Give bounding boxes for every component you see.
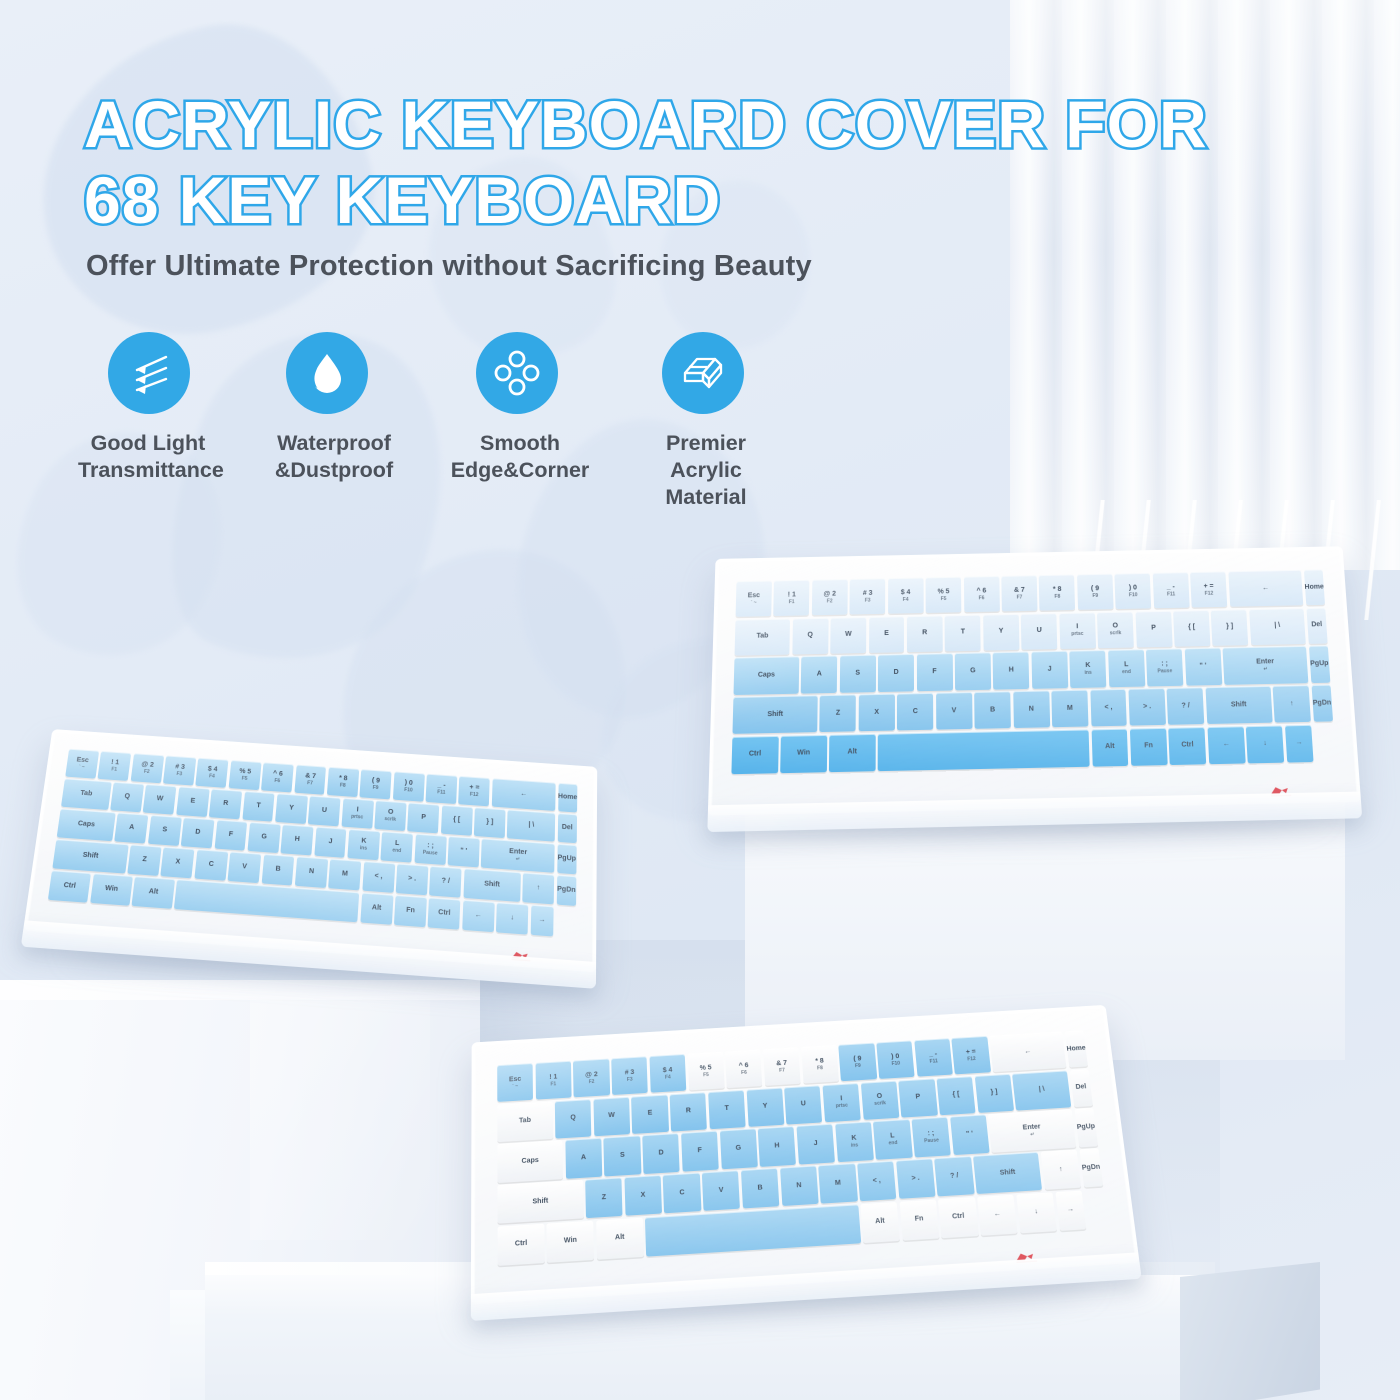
keycap[interactable] bbox=[878, 729, 1090, 771]
keycap-legend: | \ bbox=[1274, 622, 1280, 630]
keycap[interactable]: D bbox=[878, 654, 914, 691]
keycap[interactable]: > . bbox=[896, 1158, 936, 1199]
keycap-legend: N bbox=[796, 1182, 802, 1190]
keycap[interactable]: P bbox=[899, 1078, 938, 1117]
keycap-legend: F bbox=[228, 831, 233, 839]
keycap[interactable]: Oscrlk bbox=[1097, 611, 1134, 648]
keycap[interactable]: X bbox=[624, 1175, 662, 1216]
keycap[interactable]: H bbox=[281, 825, 314, 856]
keycap[interactable]: Ctrl bbox=[48, 871, 91, 903]
keycap[interactable]: Win bbox=[780, 735, 827, 773]
keycap[interactable]: Alt bbox=[360, 893, 393, 925]
keycap-legend: ← bbox=[993, 1211, 1001, 1219]
keycap-legend: ^ 6 bbox=[976, 587, 986, 595]
keycap[interactable]: Alt bbox=[829, 734, 875, 772]
keycap[interactable]: { [ bbox=[1173, 610, 1210, 647]
keycap-legend: Win bbox=[797, 750, 810, 758]
keycap[interactable]: * 8F8 bbox=[327, 767, 359, 797]
keycap-legend: G bbox=[261, 833, 267, 841]
keycap[interactable]: X bbox=[859, 694, 895, 732]
keycap[interactable]: F bbox=[214, 820, 247, 851]
keycap[interactable]: Win bbox=[547, 1220, 594, 1262]
keycap[interactable]: Tab bbox=[497, 1101, 553, 1142]
keycap[interactable]: Ctrl bbox=[1169, 727, 1207, 765]
keycap-grid: Esc` ~! 1F1@ 2F2# 3F3$ 4F4% 5F5^ 6F6& 7F… bbox=[731, 569, 1335, 774]
keycap-legend: G bbox=[970, 667, 976, 675]
keycap-legend: Win bbox=[105, 885, 119, 894]
keycap[interactable]: } ] bbox=[474, 807, 506, 837]
keycap-legend: S bbox=[620, 1152, 625, 1160]
keycap[interactable]: Lend bbox=[381, 832, 413, 863]
keycap-legend: PgUp bbox=[1310, 660, 1329, 668]
keycap-legend: Fn bbox=[406, 907, 415, 916]
keycap-legend: Ctrl bbox=[749, 751, 761, 759]
keycap-legend: PgUp bbox=[558, 854, 576, 863]
keycap[interactable]: Kins bbox=[1070, 650, 1107, 687]
keycap-legend: Enter bbox=[1256, 658, 1274, 666]
keycap[interactable]: Del bbox=[1306, 607, 1328, 643]
keycap[interactable]: > . bbox=[396, 864, 429, 895]
keycap[interactable]: " ' bbox=[1184, 648, 1222, 685]
keycap-legend: M bbox=[1067, 705, 1073, 713]
keycap[interactable]: Q bbox=[110, 782, 144, 812]
keycap-legend: Z bbox=[602, 1194, 607, 1202]
keycap-legend: Del bbox=[562, 824, 573, 832]
keycap[interactable]: Z bbox=[820, 695, 857, 733]
keycap[interactable]: Esc` ~ bbox=[65, 749, 99, 779]
feature-item-smooth-edge: Smooth Edge&Corner bbox=[450, 332, 590, 511]
keycap[interactable]: Z bbox=[127, 845, 161, 876]
keycap[interactable]: Y bbox=[983, 614, 1019, 651]
keycap[interactable]: < , bbox=[1090, 689, 1127, 727]
keycap-sublegend: F3 bbox=[176, 771, 182, 777]
keycap[interactable]: ? / bbox=[934, 1156, 974, 1197]
feature-list: Good Light Transmittance Waterproof &Dus… bbox=[78, 332, 776, 511]
keycap[interactable]: Iprtsc bbox=[341, 798, 373, 828]
keycap-legend: ) 0 bbox=[1129, 584, 1137, 592]
keycap[interactable]: X bbox=[161, 847, 195, 878]
keycap[interactable]: Ctrl bbox=[731, 736, 778, 775]
keycap[interactable]: N bbox=[295, 857, 328, 888]
keycap-sublegend: F7 bbox=[307, 780, 313, 786]
keycap[interactable]: Enter↵ bbox=[481, 839, 555, 873]
keycap-legend: { [ bbox=[1188, 624, 1195, 632]
keycap[interactable]: ! 1F1 bbox=[535, 1061, 571, 1100]
keycap[interactable]: ↑ bbox=[522, 873, 554, 904]
keycap-legend: Q bbox=[807, 632, 813, 640]
keycap-legend: D bbox=[894, 669, 899, 677]
keycap[interactable]: ↑ bbox=[1273, 685, 1311, 723]
keycap[interactable]: S bbox=[148, 815, 182, 846]
keycap[interactable]: + =F12 bbox=[952, 1036, 991, 1075]
keycap-legend: ← bbox=[520, 790, 527, 798]
keycap-legend: O bbox=[1112, 623, 1118, 631]
keycap[interactable]: | \ bbox=[1012, 1070, 1071, 1110]
keycap-legend: H bbox=[1009, 667, 1014, 675]
keycap[interactable]: { [ bbox=[441, 805, 473, 835]
keycap[interactable]: Fn bbox=[899, 1199, 939, 1240]
keycap[interactable]: Shift bbox=[52, 839, 128, 873]
keycap-sublegend: F4 bbox=[903, 597, 909, 603]
keycap-legend: Z bbox=[142, 856, 147, 864]
keycap-legend: Del bbox=[1311, 622, 1322, 630]
keycap-legend: } ] bbox=[990, 1089, 998, 1097]
keycap-legend: Ctrl bbox=[63, 882, 76, 891]
keycap-legend: Del bbox=[1075, 1084, 1087, 1092]
keycap[interactable]: Shift bbox=[497, 1180, 583, 1224]
keycap[interactable]: ! 1F1 bbox=[98, 751, 132, 781]
keycap[interactable]: Kins bbox=[835, 1122, 874, 1162]
keycap[interactable]: # 3F3 bbox=[850, 578, 886, 614]
keycap[interactable]: * 8F8 bbox=[801, 1045, 839, 1084]
keycap[interactable]: Iprtsc bbox=[822, 1083, 861, 1122]
keycap-legend: PgDn bbox=[1081, 1163, 1100, 1172]
keycap[interactable]: Ctrl bbox=[938, 1197, 978, 1238]
keycap[interactable]: Tab bbox=[61, 779, 111, 810]
keycap-sublegend: end bbox=[888, 1140, 897, 1146]
keycap[interactable]: W bbox=[830, 617, 866, 654]
keycap[interactable]: < , bbox=[362, 861, 395, 892]
keycap[interactable]: V bbox=[936, 692, 972, 730]
keycap[interactable]: → bbox=[1055, 1190, 1086, 1231]
keycap[interactable]: M bbox=[818, 1163, 857, 1204]
keycap[interactable]: ↓ bbox=[1246, 725, 1284, 763]
keycap[interactable]: ↓ bbox=[1016, 1192, 1057, 1233]
keycap[interactable]: A bbox=[565, 1138, 602, 1178]
keycap[interactable]: < , bbox=[857, 1161, 896, 1202]
keycap[interactable]: " ' bbox=[448, 836, 480, 867]
keycap-legend: ( 9 bbox=[1091, 585, 1099, 593]
keycap[interactable]: PgUp bbox=[1309, 646, 1331, 683]
keycap[interactable]: : ;Pause bbox=[912, 1117, 951, 1157]
keycap-legend: N bbox=[1029, 705, 1034, 713]
keycap[interactable]: ← bbox=[977, 1195, 1018, 1236]
keycap[interactable]: T bbox=[242, 791, 275, 821]
keycap-legend: PgDn bbox=[557, 886, 576, 895]
keycap[interactable]: Z bbox=[585, 1177, 623, 1218]
keycap[interactable]: Oscrlk bbox=[860, 1080, 899, 1119]
keycap[interactable]: ( 9F9 bbox=[360, 769, 392, 799]
keycap[interactable]: % 5F5 bbox=[687, 1052, 724, 1091]
keycap[interactable]: ! 1F1 bbox=[774, 580, 810, 616]
keycap[interactable]: > . bbox=[1128, 688, 1166, 726]
keycap[interactable]: D bbox=[642, 1133, 680, 1173]
keycap[interactable]: C bbox=[663, 1173, 701, 1214]
keycap[interactable]: } ] bbox=[1211, 609, 1249, 646]
keycap[interactable]: Tab bbox=[735, 618, 791, 655]
keycap[interactable]: Enter↵ bbox=[1223, 646, 1309, 684]
keycap-legend: B bbox=[275, 866, 281, 874]
keycap[interactable]: Win bbox=[90, 874, 133, 906]
keycap[interactable]: PgDn bbox=[556, 875, 576, 906]
keycap[interactable]: Alt bbox=[596, 1217, 644, 1259]
keycap[interactable]: C bbox=[194, 850, 228, 881]
keycap[interactable]: V bbox=[702, 1170, 740, 1211]
keycap-legend: * 8 bbox=[1053, 586, 1062, 594]
keycap[interactable]: A bbox=[801, 656, 837, 693]
keycap[interactable]: R bbox=[670, 1092, 707, 1132]
keycap[interactable]: Kins bbox=[347, 829, 380, 860]
keycap[interactable]: Shift bbox=[463, 869, 520, 902]
keycap[interactable]: M bbox=[328, 859, 361, 890]
keycap[interactable]: $ 4F4 bbox=[196, 758, 229, 788]
keycap[interactable]: & 7F7 bbox=[1001, 575, 1037, 611]
keycap[interactable]: J bbox=[796, 1124, 835, 1164]
keycap[interactable]: Oscrlk bbox=[374, 800, 406, 830]
keycap[interactable]: Alt bbox=[1091, 728, 1129, 766]
keycap[interactable]: J bbox=[1031, 651, 1068, 688]
keycap-sublegend: F3 bbox=[627, 1076, 633, 1082]
keycap-legend: V bbox=[719, 1187, 724, 1195]
keycap[interactable]: W bbox=[143, 784, 177, 814]
keycap[interactable]: G bbox=[247, 822, 280, 853]
keycap[interactable]: @ 2F2 bbox=[130, 753, 163, 783]
keycap[interactable]: _ -F11 bbox=[1152, 572, 1189, 608]
keycap[interactable]: M bbox=[1051, 690, 1088, 728]
keycap[interactable]: R bbox=[209, 789, 242, 819]
keycap-legend: { [ bbox=[952, 1091, 960, 1099]
keycap-legend: : ; bbox=[1161, 660, 1168, 668]
keycap[interactable]: @ 2F2 bbox=[812, 579, 848, 615]
keycap[interactable]: ? / bbox=[429, 866, 461, 897]
keycap[interactable]: Caps bbox=[733, 657, 799, 695]
keycap-legend: Ctrl bbox=[1181, 742, 1194, 750]
keycap[interactable]: * 8F8 bbox=[1039, 574, 1075, 610]
keycap[interactable]: U bbox=[784, 1085, 822, 1124]
keycap[interactable]: ↓ bbox=[496, 903, 528, 935]
keycap[interactable]: _ -F11 bbox=[914, 1038, 953, 1077]
keycap[interactable]: Shift bbox=[732, 695, 817, 734]
keycap-legend: ← bbox=[475, 912, 482, 921]
keycap[interactable]: V bbox=[228, 852, 262, 883]
keycap-legend: X bbox=[874, 709, 879, 717]
keycap[interactable]: G bbox=[719, 1129, 757, 1169]
keycap[interactable]: PgUp bbox=[557, 844, 577, 874]
keycap[interactable]: ) 0F10 bbox=[876, 1040, 915, 1079]
keycap[interactable]: F bbox=[681, 1131, 719, 1171]
keycap[interactable]: + =F12 bbox=[459, 776, 490, 806]
keycap-legend: > . bbox=[408, 875, 416, 883]
keycap[interactable]: P bbox=[407, 803, 439, 833]
keycap-legend: Fn bbox=[915, 1216, 924, 1225]
keycap[interactable]: P bbox=[1135, 611, 1172, 648]
keycap-sublegend: F5 bbox=[703, 1072, 709, 1078]
keycap[interactable]: Alt bbox=[132, 877, 175, 909]
keycap[interactable]: & 7F7 bbox=[294, 765, 326, 795]
keycap-sublegend: prtsc bbox=[1071, 631, 1083, 637]
feature-label: Smooth Edge&Corner bbox=[450, 430, 590, 484]
keycap[interactable]: ← bbox=[1207, 726, 1245, 764]
keycap[interactable]: → bbox=[1285, 725, 1314, 763]
keycap[interactable]: D bbox=[181, 817, 215, 848]
keycap[interactable]: N bbox=[1013, 691, 1050, 729]
keycap[interactable]: ↑ bbox=[1041, 1150, 1082, 1191]
keycap-sublegend: F12 bbox=[470, 792, 479, 798]
keycap-legend: $ 4 bbox=[901, 589, 911, 597]
keycap[interactable]: S bbox=[604, 1136, 641, 1176]
keycap[interactable]: Shift bbox=[973, 1152, 1042, 1194]
keycap-sublegend: F2 bbox=[589, 1079, 595, 1085]
keycap[interactable]: # 3F3 bbox=[163, 756, 196, 786]
keycap[interactable]: ^ 6F6 bbox=[261, 762, 294, 792]
keycap[interactable]: ^ 6F6 bbox=[964, 576, 1000, 612]
keycap[interactable]: Fn bbox=[1130, 728, 1168, 766]
keycap[interactable]: Ctrl bbox=[498, 1224, 545, 1266]
keycap[interactable]: ← bbox=[462, 900, 494, 932]
keycap[interactable]: # 3F3 bbox=[611, 1056, 648, 1095]
keycap[interactable]: W bbox=[593, 1097, 630, 1137]
keycap[interactable]: { [ bbox=[937, 1076, 976, 1115]
keycap-legend: Shift bbox=[82, 852, 99, 861]
keycap[interactable]: Q bbox=[792, 618, 828, 655]
keycap[interactable]: F bbox=[916, 654, 952, 691]
keycap-legend: I bbox=[1076, 624, 1078, 632]
keycap[interactable]: H bbox=[758, 1126, 796, 1166]
keycap[interactable]: Caps bbox=[57, 809, 116, 841]
keycap-legend: " ' bbox=[460, 848, 467, 856]
keycap-legend: Ctrl bbox=[952, 1213, 965, 1222]
keycap[interactable]: → bbox=[530, 905, 554, 936]
pedestal-center-side bbox=[1180, 1262, 1320, 1400]
keycap[interactable]: " ' bbox=[950, 1115, 990, 1155]
keycap[interactable]: Alt bbox=[860, 1202, 900, 1243]
keycap-legend: I bbox=[840, 1096, 842, 1104]
keycap-legend: J bbox=[1048, 666, 1052, 674]
keycap-legend: ← bbox=[1223, 741, 1230, 749]
keycap[interactable]: ) 0F10 bbox=[393, 771, 425, 801]
keycap-sublegend: ins bbox=[360, 845, 368, 851]
keycap-legend: PgUp bbox=[1077, 1123, 1096, 1132]
keycap-legend: P bbox=[915, 1094, 920, 1102]
headline-line-2: 68 KEY KEYBOARD bbox=[84, 162, 1164, 238]
keycap[interactable]: U bbox=[308, 796, 341, 826]
keycap-legend: ← bbox=[1024, 1048, 1032, 1056]
keycap[interactable]: Lend bbox=[873, 1119, 912, 1159]
keycap-legend: M bbox=[835, 1179, 841, 1187]
keycap[interactable]: R bbox=[907, 615, 943, 652]
keycap-legend: G bbox=[736, 1145, 742, 1153]
keycap-legend: J bbox=[813, 1140, 817, 1148]
keycap[interactable]: ( 9F9 bbox=[839, 1043, 877, 1082]
keycap[interactable]: H bbox=[993, 652, 1030, 689]
keycap[interactable]: | \ bbox=[507, 810, 555, 842]
water-drop-icon bbox=[286, 332, 368, 414]
keycap[interactable]: @ 2F2 bbox=[573, 1059, 610, 1098]
keycap[interactable]: _ -F11 bbox=[426, 774, 458, 804]
light-rays-icon bbox=[108, 332, 190, 414]
keycap[interactable]: E bbox=[631, 1094, 668, 1134]
keycap-legend: ? / bbox=[441, 878, 450, 886]
keycap[interactable]: Iprtsc bbox=[1059, 612, 1096, 649]
feature-item-acrylic-material: Premier Acrylic Material bbox=[636, 332, 776, 511]
keycap[interactable]: Home bbox=[1303, 569, 1325, 605]
keycap-sublegend: F4 bbox=[209, 773, 215, 779]
keycap-sublegend: F2 bbox=[144, 769, 150, 775]
keycap-sublegend: ins bbox=[851, 1142, 859, 1148]
keycap[interactable]: Esc` ~ bbox=[497, 1063, 533, 1102]
keycap-legend: Shift bbox=[767, 711, 783, 719]
acrylic-stack-icon bbox=[662, 332, 744, 414]
keycap[interactable]: Caps bbox=[497, 1140, 563, 1182]
keycap[interactable]: + =F12 bbox=[1190, 571, 1227, 607]
keycap[interactable]: A bbox=[115, 813, 149, 844]
keycap[interactable]: B bbox=[261, 854, 294, 885]
keycap[interactable]: Enter↵ bbox=[988, 1110, 1076, 1153]
keycap[interactable]: Home bbox=[558, 783, 578, 812]
keycap[interactable]: Del bbox=[557, 813, 577, 843]
keycap[interactable]: ) 0F10 bbox=[1115, 573, 1152, 609]
keycap-sublegend: ins bbox=[1084, 670, 1091, 676]
keycap[interactable]: B bbox=[741, 1168, 780, 1209]
keycap[interactable]: % 5F5 bbox=[228, 760, 261, 790]
keycap[interactable]: C bbox=[897, 693, 933, 731]
keycap-sublegend: end bbox=[1122, 669, 1131, 675]
keycap[interactable]: E bbox=[176, 787, 209, 817]
keycap-sublegend: F12 bbox=[967, 1056, 976, 1062]
keycap-sublegend: F5 bbox=[241, 776, 247, 782]
keycap[interactable]: : ;Pause bbox=[414, 834, 446, 865]
feature-item-waterproof: Waterproof &Dustproof bbox=[264, 332, 404, 511]
keycap[interactable]: : ;Pause bbox=[1146, 649, 1183, 686]
keycap[interactable]: } ] bbox=[974, 1074, 1014, 1113]
keycap-legend: E bbox=[884, 630, 889, 638]
keycap-sublegend: F11 bbox=[929, 1058, 938, 1064]
keycap[interactable]: Lend bbox=[1108, 650, 1145, 687]
keycap[interactable]: ^ 6F6 bbox=[725, 1049, 763, 1088]
keycap[interactable]: U bbox=[1021, 613, 1057, 650]
keycap[interactable]: Y bbox=[746, 1087, 784, 1126]
keycap-sublegend: F9 bbox=[1092, 593, 1098, 599]
keycap[interactable]: & 7F7 bbox=[763, 1047, 801, 1086]
keycap-legend: T bbox=[256, 802, 261, 810]
keycap-sublegend: F12 bbox=[1205, 590, 1214, 596]
keycap[interactable]: E bbox=[869, 616, 905, 653]
keycap[interactable]: $ 4F4 bbox=[888, 578, 924, 614]
keycap[interactable]: Q bbox=[555, 1099, 592, 1139]
keycap[interactable]: | \ bbox=[1249, 608, 1306, 645]
keycap[interactable]: $ 4F4 bbox=[649, 1054, 686, 1093]
keycap[interactable]: S bbox=[840, 655, 876, 692]
keycap[interactable]: T bbox=[708, 1090, 746, 1129]
keycap[interactable]: ( 9F9 bbox=[1077, 574, 1114, 610]
keycap[interactable]: % 5F5 bbox=[926, 577, 962, 613]
feature-label: Good Light Transmittance bbox=[78, 430, 218, 484]
keycap[interactable]: PgDn bbox=[1311, 685, 1333, 722]
keycap[interactable]: J bbox=[314, 827, 347, 858]
keycap-sublegend: F6 bbox=[741, 1070, 747, 1076]
keycap[interactable]: ? / bbox=[1167, 687, 1205, 725]
keycap-legend: Esc bbox=[748, 592, 760, 600]
keycap[interactable]: N bbox=[780, 1166, 819, 1207]
keycap-legend: > . bbox=[911, 1175, 920, 1183]
keycap-sublegend: F8 bbox=[817, 1065, 823, 1071]
keycap[interactable]: Ctrl bbox=[428, 898, 461, 930]
keycap[interactable]: Shift bbox=[1205, 686, 1272, 724]
keycap-legend: H bbox=[774, 1142, 780, 1150]
keycap[interactable]: T bbox=[945, 614, 981, 651]
keycap[interactable]: ← bbox=[989, 1031, 1066, 1072]
keycap[interactable]: Fn bbox=[394, 895, 427, 927]
keycap[interactable]: Y bbox=[275, 793, 308, 823]
keycap[interactable]: Esc` ~ bbox=[736, 581, 772, 617]
keycap-legend: S bbox=[855, 670, 860, 678]
keycap-legend: L bbox=[1124, 661, 1129, 669]
keycap[interactable]: B bbox=[974, 691, 1011, 729]
keycap[interactable]: ← bbox=[1228, 570, 1303, 607]
keycap[interactable]: ← bbox=[492, 778, 556, 810]
keycap[interactable]: G bbox=[955, 653, 991, 690]
keycap-sublegend: scrlk bbox=[1110, 630, 1122, 636]
